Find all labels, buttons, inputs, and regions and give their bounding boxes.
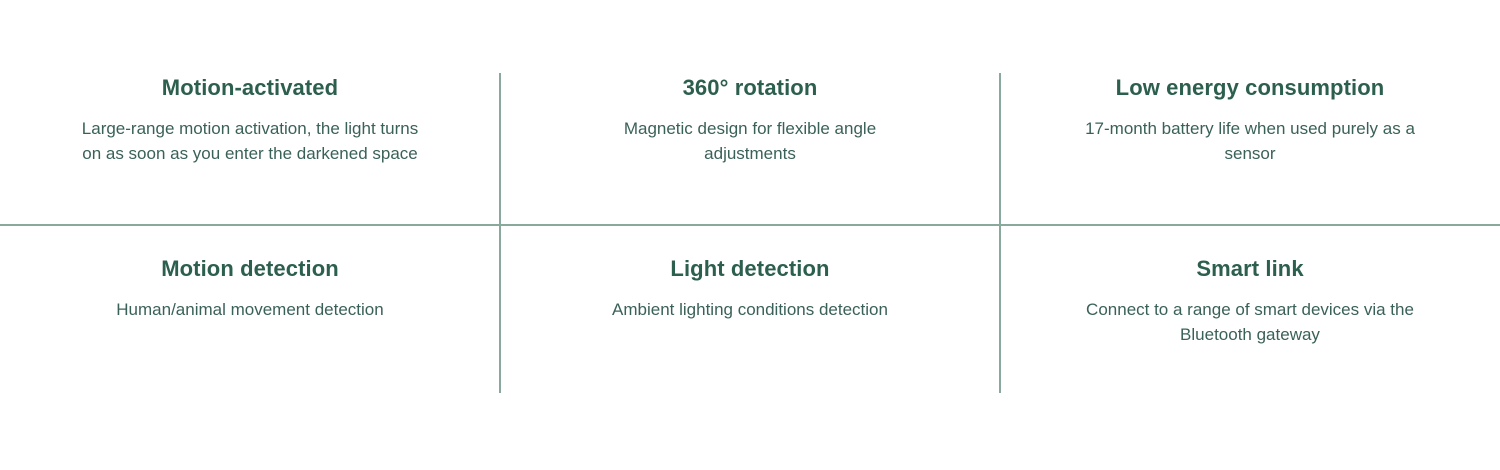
- feature-description: Large-range motion activation, the light…: [75, 116, 425, 166]
- feature-cell-smart-link: Smart link Connect to a range of smart d…: [1000, 225, 1500, 395]
- feature-description: Magnetic design for flexible angle adjus…: [585, 116, 915, 166]
- feature-cell-light-detection: Light detection Ambient lighting conditi…: [500, 225, 1000, 395]
- feature-title: 360° rotation: [683, 73, 818, 103]
- feature-title: Motion detection: [161, 254, 339, 284]
- feature-cell-low-energy-consumption: Low energy consumption 17-month battery …: [1000, 0, 1500, 225]
- feature-title: Low energy consumption: [1116, 73, 1385, 103]
- feature-grid: Motion-activated Large-range motion acti…: [0, 0, 1500, 470]
- feature-cell-motion-activated: Motion-activated Large-range motion acti…: [0, 0, 500, 225]
- feature-title: Motion-activated: [162, 73, 338, 103]
- feature-comparison-board: Motion-activated Large-range motion acti…: [0, 0, 1500, 470]
- feature-description: 17-month battery life when used purely a…: [1063, 116, 1438, 166]
- feature-cell-motion-detection: Motion detection Human/animal movement d…: [0, 225, 500, 395]
- feature-description: Connect to a range of smart devices via …: [1063, 297, 1438, 347]
- feature-description: Ambient lighting conditions detection: [612, 297, 888, 322]
- feature-title: Light detection: [670, 254, 829, 284]
- feature-title: Smart link: [1196, 254, 1303, 284]
- feature-description: Human/animal movement detection: [116, 297, 383, 322]
- feature-cell-360-rotation: 360° rotation Magnetic design for flexib…: [500, 0, 1000, 225]
